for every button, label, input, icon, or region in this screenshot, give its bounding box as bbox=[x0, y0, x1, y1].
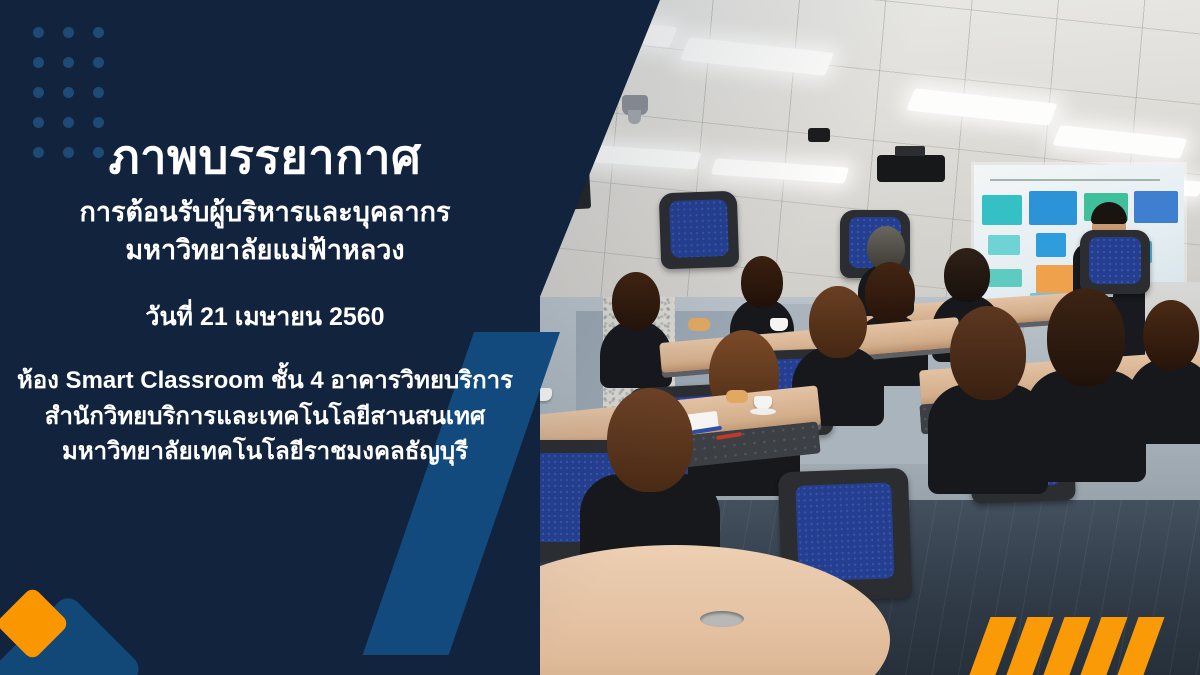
event-date: วันที่ 21 เมษายน 2560 bbox=[145, 297, 384, 337]
stripe bbox=[1117, 617, 1164, 675]
security-camera-icon bbox=[622, 95, 648, 115]
venue-line-1: ห้อง Smart Classroom ชั้น 4 อาคารวิทยบริ… bbox=[17, 363, 513, 399]
subtitle-line-1: การต้อนรับผู้บริหารและบุคลากร bbox=[80, 193, 451, 231]
cable-grommet bbox=[700, 611, 744, 627]
venue-line-2: สำนักวิทยบริการและเทคโนโลยีสานสนเทศ bbox=[17, 399, 513, 435]
office-chair bbox=[1080, 230, 1150, 294]
presenter-hair bbox=[1091, 202, 1127, 224]
saucer bbox=[750, 408, 776, 415]
snack bbox=[726, 390, 748, 403]
event-banner: ภาพบรรยากาศ การต้อนรับผู้บริหารและบุคลาก… bbox=[0, 0, 1200, 675]
ceiling-projector-icon bbox=[877, 155, 945, 182]
photo-scene bbox=[540, 0, 1200, 675]
banner-title: ภาพบรรยากาศ bbox=[109, 131, 422, 183]
orange-stripes-decoration bbox=[980, 617, 1192, 675]
slide-title-line bbox=[990, 179, 1160, 181]
venue-line-3: มหาวิทยาลัยเทคโนโลยีราชมงคลธัญบุรี bbox=[17, 434, 513, 470]
attendee bbox=[580, 388, 720, 558]
office-chair bbox=[659, 191, 740, 270]
smoke-detector-icon bbox=[808, 128, 830, 142]
event-venue: ห้อง Smart Classroom ชั้น 4 อาคารวิทยบริ… bbox=[17, 363, 513, 470]
slide-box bbox=[1036, 233, 1066, 257]
slide-box bbox=[982, 195, 1022, 225]
slide-box bbox=[1029, 191, 1077, 225]
classroom-photo bbox=[540, 0, 1200, 675]
subtitle-line-2: มหาวิทยาลัยแม่ฟ้าหลวง bbox=[80, 231, 451, 269]
attendee bbox=[1128, 300, 1200, 430]
banner-subtitle: การต้อนรับผู้บริหารและบุคลากร มหาวิทยาลั… bbox=[80, 193, 451, 270]
text-column: ภาพบรรยากาศ การต้อนรับผู้บริหารและบุคลาก… bbox=[0, 0, 530, 675]
